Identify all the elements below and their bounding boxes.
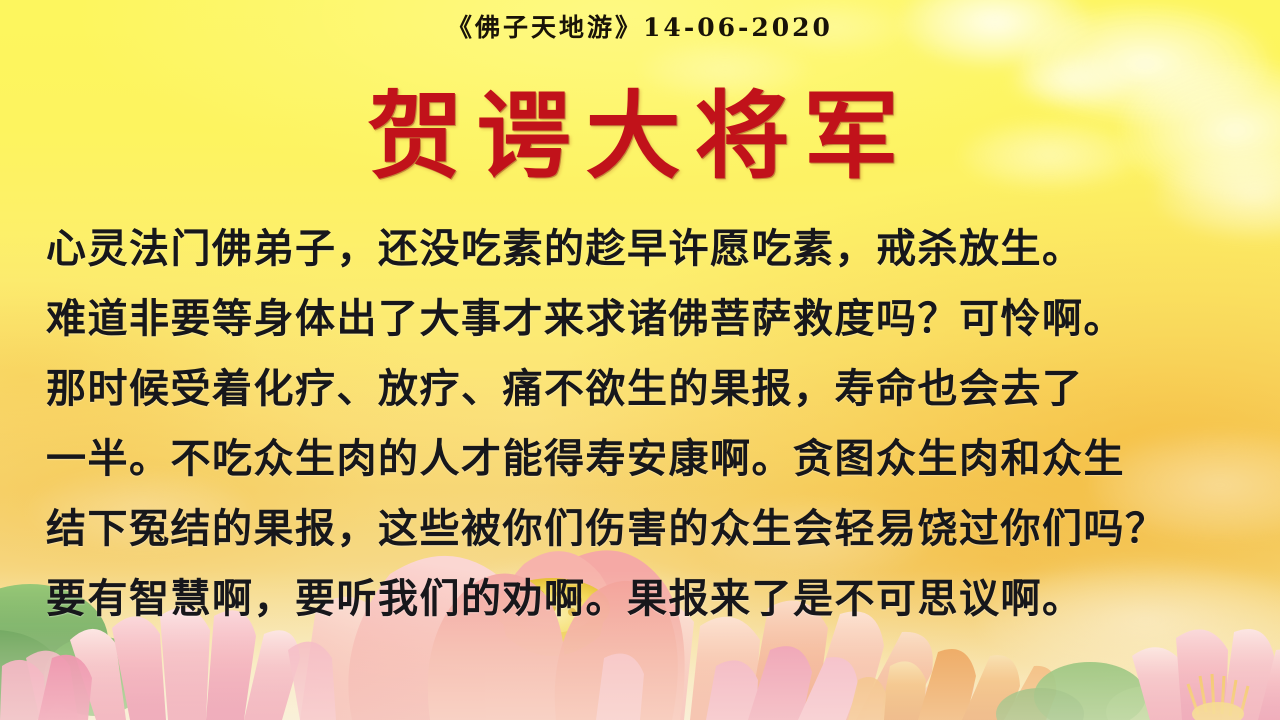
body-line: 那时候受着化疗、放疗、痛不欲生的果报，寿命也会去了 bbox=[46, 354, 1236, 424]
body-line: 结下冤结的果报，这些被你们伤害的众生会轻易饶过你们吗？ bbox=[46, 494, 1236, 564]
page-title: 贺谔大将军 bbox=[0, 82, 1280, 192]
body-line: 一半。不吃众生肉的人才能得寿安康啊。贪图众生肉和众生 bbox=[46, 424, 1236, 494]
body-line: 心灵法门佛弟子，还没吃素的趁早许愿吃素，戒杀放生。 bbox=[46, 214, 1236, 284]
header-title-date: 《佛子天地游》14-06-2020 bbox=[0, 8, 1280, 44]
poster-content: 《佛子天地游》14-06-2020 贺谔大将军 心灵法门佛弟子，还没吃素的趁早许… bbox=[0, 0, 1280, 720]
poster-canvas: 《佛子天地游》14-06-2020 贺谔大将军 心灵法门佛弟子，还没吃素的趁早许… bbox=[0, 0, 1280, 720]
body-line: 要有智慧啊，要听我们的劝啊。果报来了是不可思议啊。 bbox=[46, 564, 1236, 634]
body-line: 难道非要等身体出了大事才来求诸佛菩萨救度吗？可怜啊。 bbox=[46, 284, 1236, 354]
body-text-block: 心灵法门佛弟子，还没吃素的趁早许愿吃素，戒杀放生。 难道非要等身体出了大事才来求… bbox=[46, 214, 1236, 634]
